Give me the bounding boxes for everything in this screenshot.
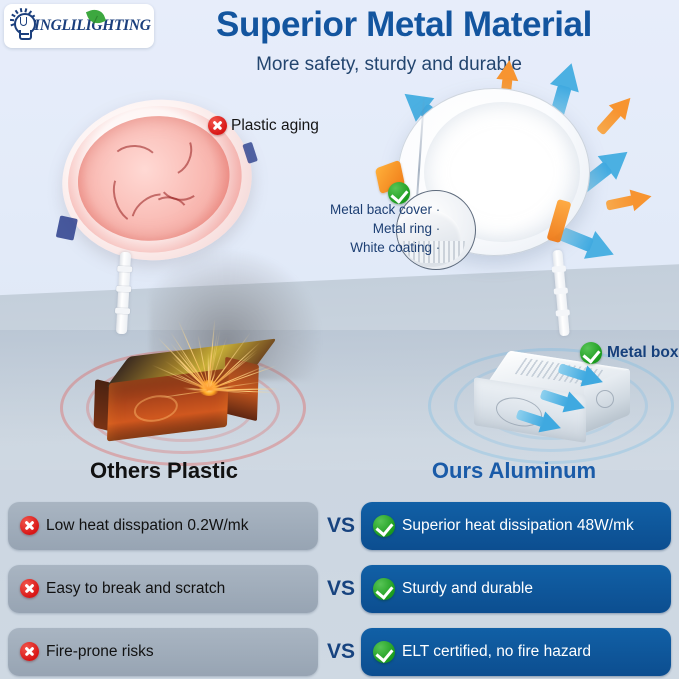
green-check-icon (373, 641, 395, 663)
others-feature-pill-3: Fire-prone risks (8, 628, 318, 676)
vs-label-2: VS (322, 577, 360, 601)
metal-box-badge: Metal box (580, 342, 678, 364)
brand-logo: INGLILIGHTING (4, 4, 154, 48)
table-row: Fire-prone risks VS ELT certified, no fi… (0, 620, 679, 679)
red-x-icon (20, 516, 39, 535)
others-feature-pill-1: Low heat disspation 0.2W/mk (8, 502, 318, 550)
table-row: Low heat disspation 0.2W/mk VS Superior … (0, 494, 679, 557)
ours-feature-pill-1: Superior heat dissipation 48W/mk (361, 502, 671, 550)
lightbulb-icon (10, 10, 38, 42)
metal-box-label: Metal box (607, 344, 678, 362)
callout-metal-back-cover: Metal back cover (330, 200, 440, 219)
red-x-icon (20, 642, 39, 661)
callout-white-coating: White coating (330, 238, 440, 257)
product-comparison-infographic: INGLILIGHTING Superior Metal Material Mo… (0, 0, 679, 679)
column-heading-ours: Ours Aluminum (364, 458, 664, 484)
vs-label-1: VS (322, 514, 360, 538)
red-x-icon (208, 116, 227, 135)
spring-clip-left (56, 215, 78, 240)
page-title: Superior Metal Material (154, 5, 654, 45)
spark-burst (150, 300, 270, 390)
table-row: Easy to break and scratch VS Sturdy and … (0, 557, 679, 620)
ours-feature-pill-3: ELT certified, no fire hazard (361, 628, 671, 676)
ours-feature-label-1: Superior heat dissipation 48W/mk (402, 517, 634, 535)
metal-callout-list: Metal back cover Metal ring White coatin… (330, 200, 440, 257)
ours-feature-label-2: Sturdy and durable (402, 580, 533, 598)
others-feature-label-1: Low heat disspation 0.2W/mk (46, 517, 248, 535)
vs-label-3: VS (322, 640, 360, 664)
ours-feature-pill-2: Sturdy and durable (361, 565, 671, 613)
green-check-icon (373, 578, 395, 600)
callout-metal-ring: Metal ring (330, 219, 440, 238)
green-check-icon (373, 515, 395, 537)
others-feature-label-2: Easy to break and scratch (46, 580, 225, 598)
ours-feature-label-3: ELT certified, no fire hazard (402, 643, 591, 661)
plastic-aging-badge: Plastic aging (208, 116, 319, 135)
plastic-aging-label: Plastic aging (231, 117, 319, 135)
others-feature-label-3: Fire-prone risks (46, 643, 154, 661)
others-feature-pill-2: Easy to break and scratch (8, 565, 318, 613)
comparison-table: Low heat disspation 0.2W/mk VS Superior … (0, 494, 679, 679)
red-x-icon (20, 579, 39, 598)
column-heading-others: Others Plastic (14, 458, 314, 484)
green-check-icon (580, 342, 602, 364)
